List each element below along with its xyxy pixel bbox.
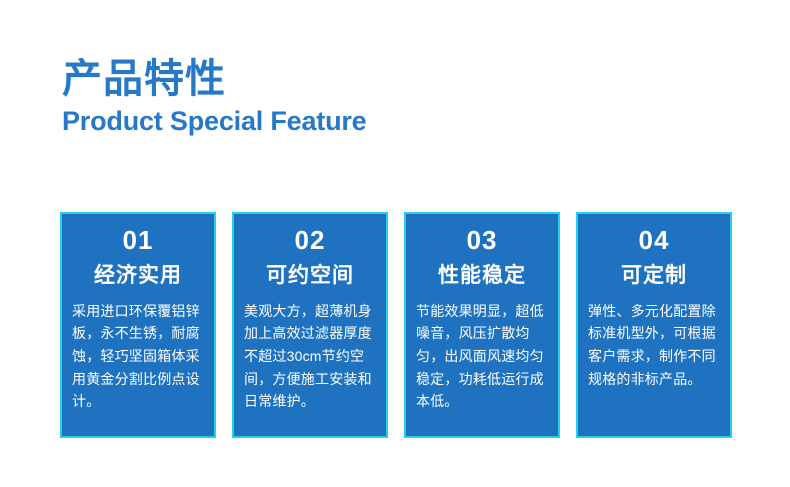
feature-card-number: 01 bbox=[123, 226, 154, 255]
feature-section: 产品特性 Product Special Feature 01 经济实用 采用进… bbox=[0, 0, 790, 487]
feature-card-body: 采用进口环保覆铝锌板，永不生锈，耐腐蚀，轻巧坚固箱体采用黄金分割比例点设计。 bbox=[72, 300, 204, 413]
page-title-en: Product Special Feature bbox=[62, 106, 367, 137]
feature-card-body: 美观大方，超薄机身加上高效过滤器厚度不超过30cm节约空间，方便施工安装和日常维… bbox=[244, 300, 376, 413]
feature-card-body: 弹性、多元化配置除标准机型外，可根据客户需求，制作不同规格的非标产品。 bbox=[588, 300, 720, 391]
feature-card-number: 02 bbox=[295, 226, 326, 255]
feature-card-body: 节能效果明显，超低噪音，风压扩散均匀，出风面风速均匀稳定，功耗低运行成本低。 bbox=[416, 300, 548, 413]
feature-card-number: 03 bbox=[467, 226, 498, 255]
feature-card-03[interactable]: 03 性能稳定 节能效果明显，超低噪音，风压扩散均匀，出风面风速均匀稳定，功耗低… bbox=[404, 212, 560, 438]
section-heading: 产品特性 Product Special Feature bbox=[62, 58, 367, 137]
feature-card-list: 01 经济实用 采用进口环保覆铝锌板，永不生锈，耐腐蚀，轻巧坚固箱体采用黄金分割… bbox=[60, 212, 730, 438]
feature-card-number: 04 bbox=[639, 226, 670, 255]
feature-card-title: 性能稳定 bbox=[438, 263, 526, 288]
feature-card-01[interactable]: 01 经济实用 采用进口环保覆铝锌板，永不生锈，耐腐蚀，轻巧坚固箱体采用黄金分割… bbox=[60, 212, 216, 438]
feature-card-title: 可约空间 bbox=[266, 263, 354, 288]
feature-card-title: 可定制 bbox=[621, 263, 687, 288]
feature-card-title: 经济实用 bbox=[94, 263, 182, 288]
page-title-cn: 产品特性 bbox=[62, 58, 367, 100]
feature-card-04[interactable]: 04 可定制 弹性、多元化配置除标准机型外，可根据客户需求，制作不同规格的非标产… bbox=[576, 212, 732, 438]
feature-card-02[interactable]: 02 可约空间 美观大方，超薄机身加上高效过滤器厚度不超过30cm节约空间，方便… bbox=[232, 212, 388, 438]
